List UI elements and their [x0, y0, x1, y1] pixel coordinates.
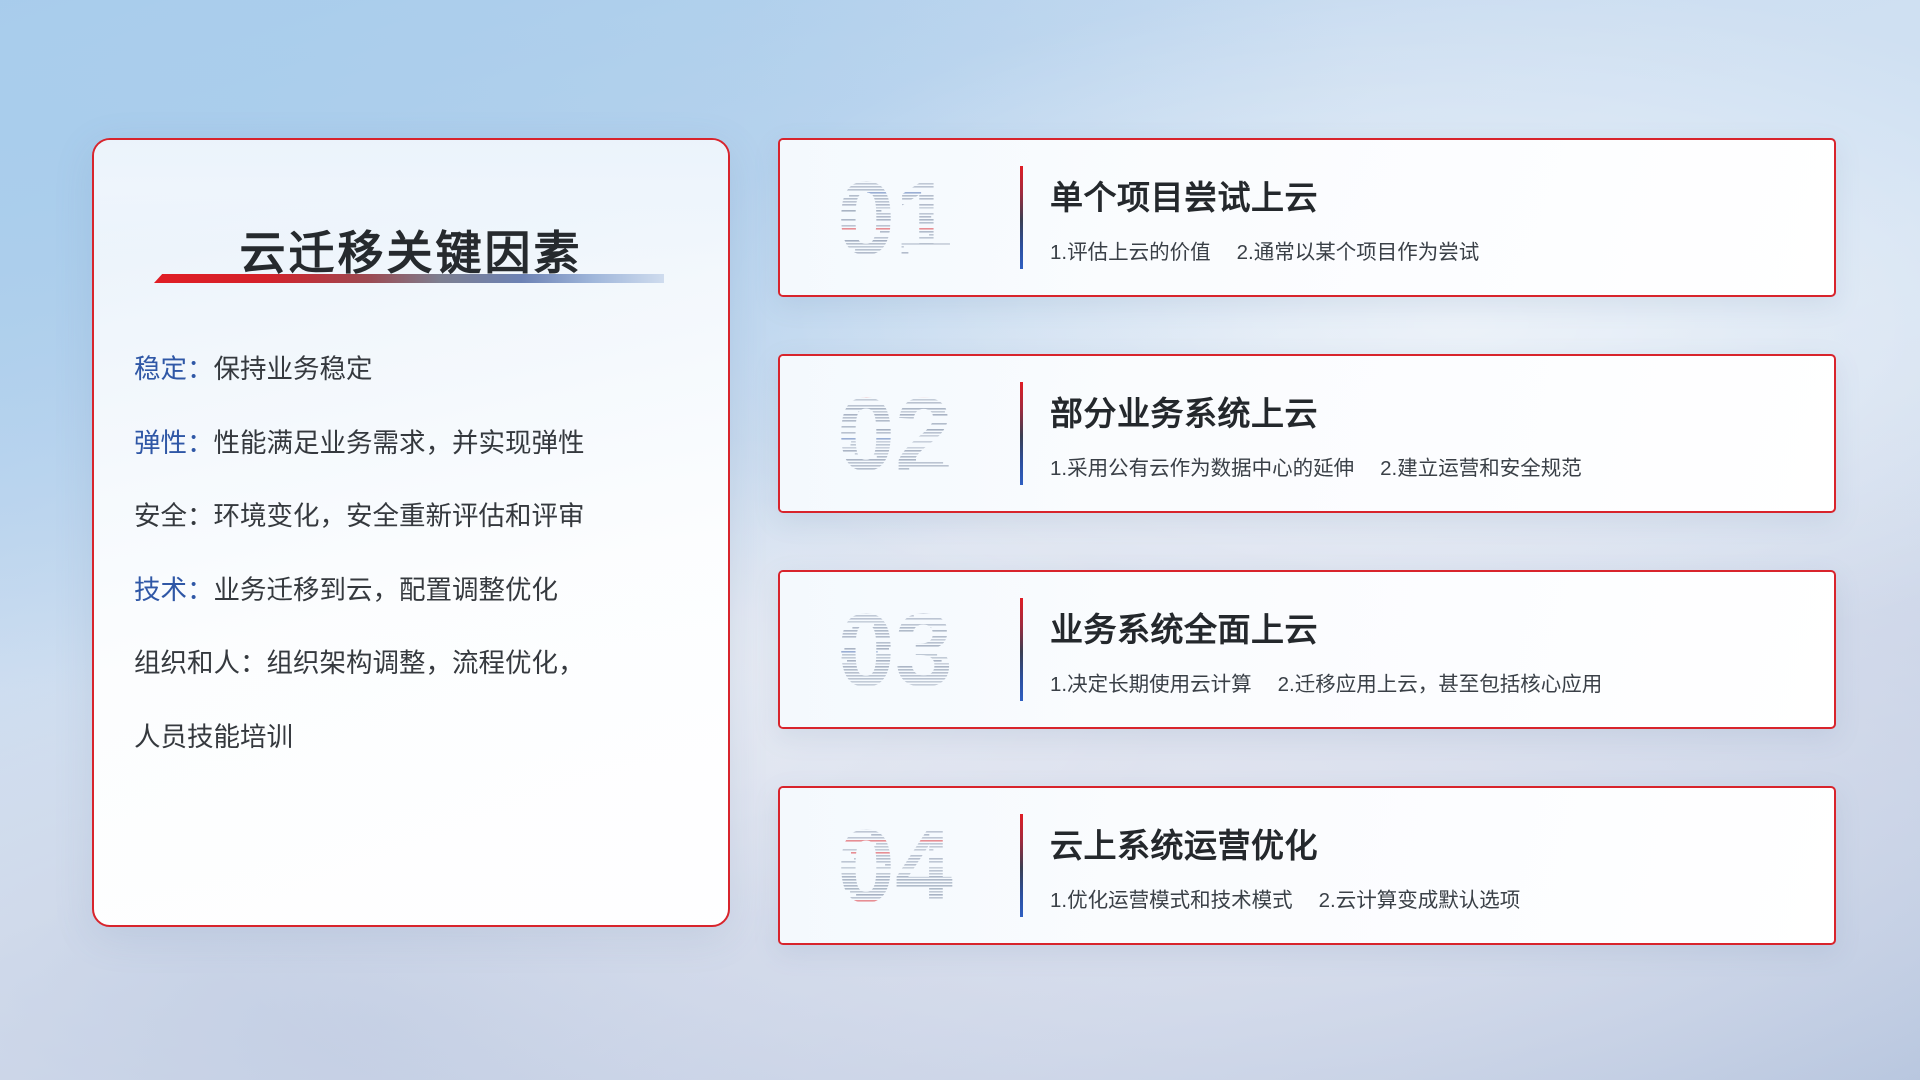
stage-subtitle: 1.采用公有云作为数据中心的延伸2.建立运营和安全规范 [1050, 451, 1806, 481]
key-factor-item: 安全：环境变化，安全重新评估和评审 [134, 503, 692, 530]
key-factor-value: 性能满足业务需求，并实现弹性 [214, 428, 585, 458]
key-factor-value: 业务迁移到云，配置调整优化 [214, 575, 559, 605]
stage-accent-bar [1020, 598, 1023, 701]
stage-subtitle-item: 2.云计算变成默认选项 [1319, 889, 1521, 912]
key-factors-panel: 云迁移关键因素 稳定：保持业务稳定弹性：性能满足业务需求，并实现弹性安全：环境变… [92, 138, 730, 927]
stage-text-block: 部分业务系统上云1.采用公有云作为数据中心的延伸2.建立运营和安全规范 [1050, 387, 1806, 481]
key-factor-value: 组织架构调整，流程优化， [267, 648, 585, 678]
key-factor-item: 人员技能培训 [134, 724, 692, 751]
stage-subtitle-item: 1.优化运营模式和技术模式 [1050, 889, 1293, 912]
stage-number-glyph: 04 [810, 814, 980, 918]
key-factor-value: 人员技能培训 [134, 722, 293, 752]
key-factor-item: 技术：业务迁移到云，配置调整优化 [134, 577, 692, 604]
stage-subtitle-item: 1.决定长期使用云计算 [1050, 673, 1252, 696]
stage-text-block: 云上系统运营优化1.优化运营模式和技术模式2.云计算变成默认选项 [1050, 819, 1806, 913]
stage-number: 02 [810, 382, 980, 486]
key-factors-panel-body: 云迁移关键因素 稳定：保持业务稳定弹性：性能满足业务需求，并实现弹性安全：环境变… [94, 140, 728, 925]
stage-card[interactable]: 01单个项目尝试上云1.评估上云的价值2.通常以某个项目作为尝试 [778, 138, 1836, 297]
stage-subtitle: 1.决定长期使用云计算2.迁移应用上云，甚至包括核心应用 [1050, 667, 1806, 697]
key-factor-label: 组织和人： [134, 648, 267, 678]
stage-title: 业务系统全面上云 [1050, 603, 1806, 651]
stage-card[interactable]: 02部分业务系统上云1.采用公有云作为数据中心的延伸2.建立运营和安全规范 [778, 354, 1836, 513]
key-factor-value: 环境变化，安全重新评估和评审 [214, 501, 585, 531]
stage-subtitle-item: 1.采用公有云作为数据中心的延伸 [1050, 457, 1354, 480]
stage-text-block: 业务系统全面上云1.决定长期使用云计算2.迁移应用上云，甚至包括核心应用 [1050, 603, 1806, 697]
stage-subtitle: 1.评估上云的价值2.通常以某个项目作为尝试 [1050, 235, 1806, 265]
stage-subtitle-item: 2.建立运营和安全规范 [1380, 457, 1582, 480]
stage-number: 03 [810, 598, 980, 702]
key-factor-value: 保持业务稳定 [214, 354, 373, 384]
stage-accent-bar [1020, 814, 1023, 917]
stage-title: 部分业务系统上云 [1050, 387, 1806, 435]
stage-number: 04 [810, 814, 980, 918]
stage-accent-bar [1020, 166, 1023, 269]
stage-title: 单个项目尝试上云 [1050, 171, 1806, 219]
stage-subtitle-item: 2.通常以某个项目作为尝试 [1237, 241, 1480, 264]
stage-number-glyph: 02 [810, 382, 980, 486]
key-factor-item: 稳定：保持业务稳定 [134, 356, 692, 383]
key-factor-label: 弹性： [134, 428, 214, 458]
key-factors-list: 稳定：保持业务稳定弹性：性能满足业务需求，并实现弹性安全：环境变化，安全重新评估… [134, 356, 692, 750]
cloud-migration-stage-list: 01单个项目尝试上云1.评估上云的价值2.通常以某个项目作为尝试02部分业务系统… [778, 138, 1836, 945]
key-factor-item: 组织和人：组织架构调整，流程优化， [134, 650, 692, 677]
stage-number-glyph: 03 [810, 598, 980, 702]
title-underline-rule [154, 274, 664, 283]
key-factor-label: 安全： [134, 501, 214, 531]
key-factor-label: 技术： [134, 575, 214, 605]
stage-subtitle: 1.优化运营模式和技术模式2.云计算变成默认选项 [1050, 883, 1806, 913]
page-title: 云迁移关键因素 [94, 217, 728, 283]
stage-card[interactable]: 04云上系统运营优化1.优化运营模式和技术模式2.云计算变成默认选项 [778, 786, 1836, 945]
stage-subtitle-item: 1.评估上云的价值 [1050, 241, 1211, 264]
key-factor-label: 稳定： [134, 354, 214, 384]
stage-text-block: 单个项目尝试上云1.评估上云的价值2.通常以某个项目作为尝试 [1050, 171, 1806, 265]
stage-subtitle-item: 2.迁移应用上云，甚至包括核心应用 [1278, 673, 1603, 696]
stage-title: 云上系统运营优化 [1050, 819, 1806, 867]
stage-number-glyph: 01 [810, 166, 980, 270]
stage-number: 01 [810, 166, 980, 270]
key-factor-item: 弹性：性能满足业务需求，并实现弹性 [134, 430, 692, 457]
stage-card[interactable]: 03业务系统全面上云1.决定长期使用云计算2.迁移应用上云，甚至包括核心应用 [778, 570, 1836, 729]
stage-accent-bar [1020, 382, 1023, 485]
